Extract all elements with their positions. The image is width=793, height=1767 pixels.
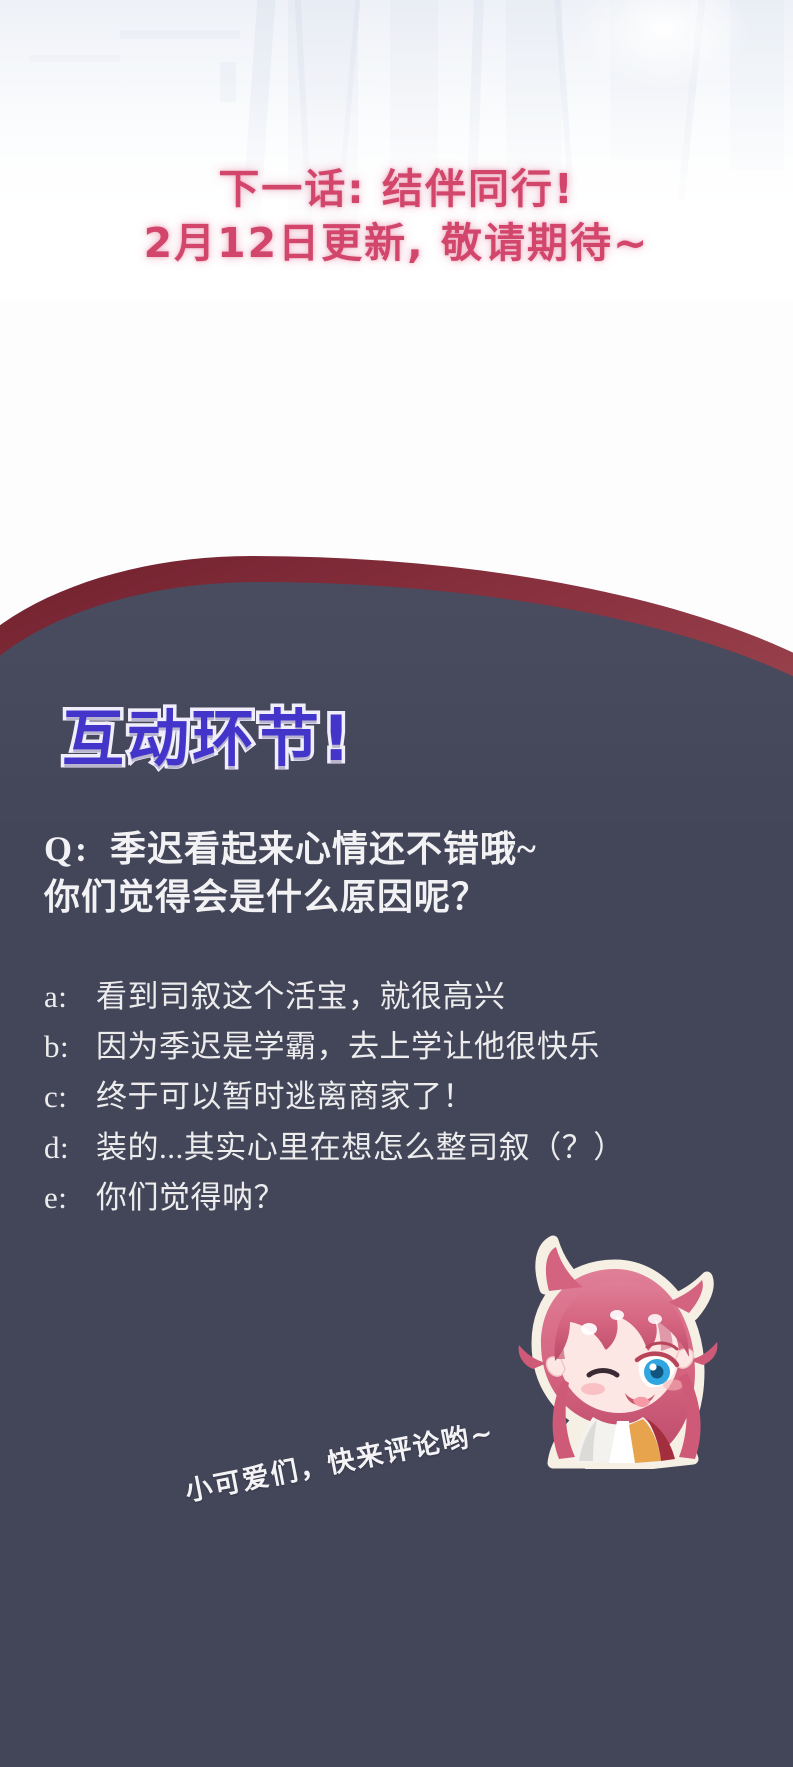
hair-shine-2 [610,1310,624,1320]
option-key-e: e: [44,1173,96,1223]
list-item[interactable]: a: 看到司叙这个活宝，就很高兴 [44,972,774,1022]
question-line-1: Q: 季迟看起来心情还不错哦~ [44,826,744,874]
webtoon-page: 下一话: 结伴同行! 2月12日更新, 敬请期待~ 互动环节! Q: 季迟看起来… [0,0,793,1767]
hair-shine-3 [648,1314,662,1324]
next-episode-headline: 下一话: 结伴同行! 2月12日更新, 敬请期待~ [0,165,793,268]
answer-options-list: a: 看到司叙这个活宝，就很高兴 b: 因为季迟是学霸，去上学让他很快乐 c: … [44,972,774,1223]
interaction-title: 互动环节! [62,688,353,778]
option-key-a: a: [44,972,96,1022]
headline-line-1: 下一话: 结伴同行! [0,165,793,213]
option-key-b: b: [44,1022,96,1072]
chibi-winking-character [497,1219,737,1469]
question-text-1: 季迟看起来心情还不错哦~ [110,829,537,869]
hair-shine-1 [581,1323,597,1335]
option-key-d: d: [44,1123,96,1173]
blush-left [581,1383,605,1395]
option-text-b: 因为季迟是学霸，去上学让他很快乐 [96,1022,774,1072]
option-key-c: c: [44,1072,96,1122]
list-item[interactable]: c: 终于可以暂时逃离商家了！ [44,1072,774,1122]
list-item[interactable]: b: 因为季迟是学霸，去上学让他很快乐 [44,1022,774,1072]
option-text-a: 看到司叙这个活宝，就很高兴 [96,972,774,1022]
headline-line-2: 2月12日更新, 敬请期待~ [0,219,793,267]
blush-right [663,1380,683,1391]
option-text-d: 装的...其实心里在想怎么整司叙（？） [96,1123,774,1173]
option-text-c: 终于可以暂时逃离商家了！ [96,1072,774,1122]
question-line-2: 你们觉得会是什么原因呢？ [44,874,744,922]
option-text-e: 你们觉得呐？ [96,1173,774,1223]
list-item[interactable]: d: 装的...其实心里在想怎么整司叙（？） [44,1123,774,1173]
question-block: Q: 季迟看起来心情还不错哦~ 你们觉得会是什么原因呢？ [44,826,744,921]
question-label: Q: [44,829,90,869]
list-item[interactable]: e: 你们觉得呐？ [44,1173,774,1223]
